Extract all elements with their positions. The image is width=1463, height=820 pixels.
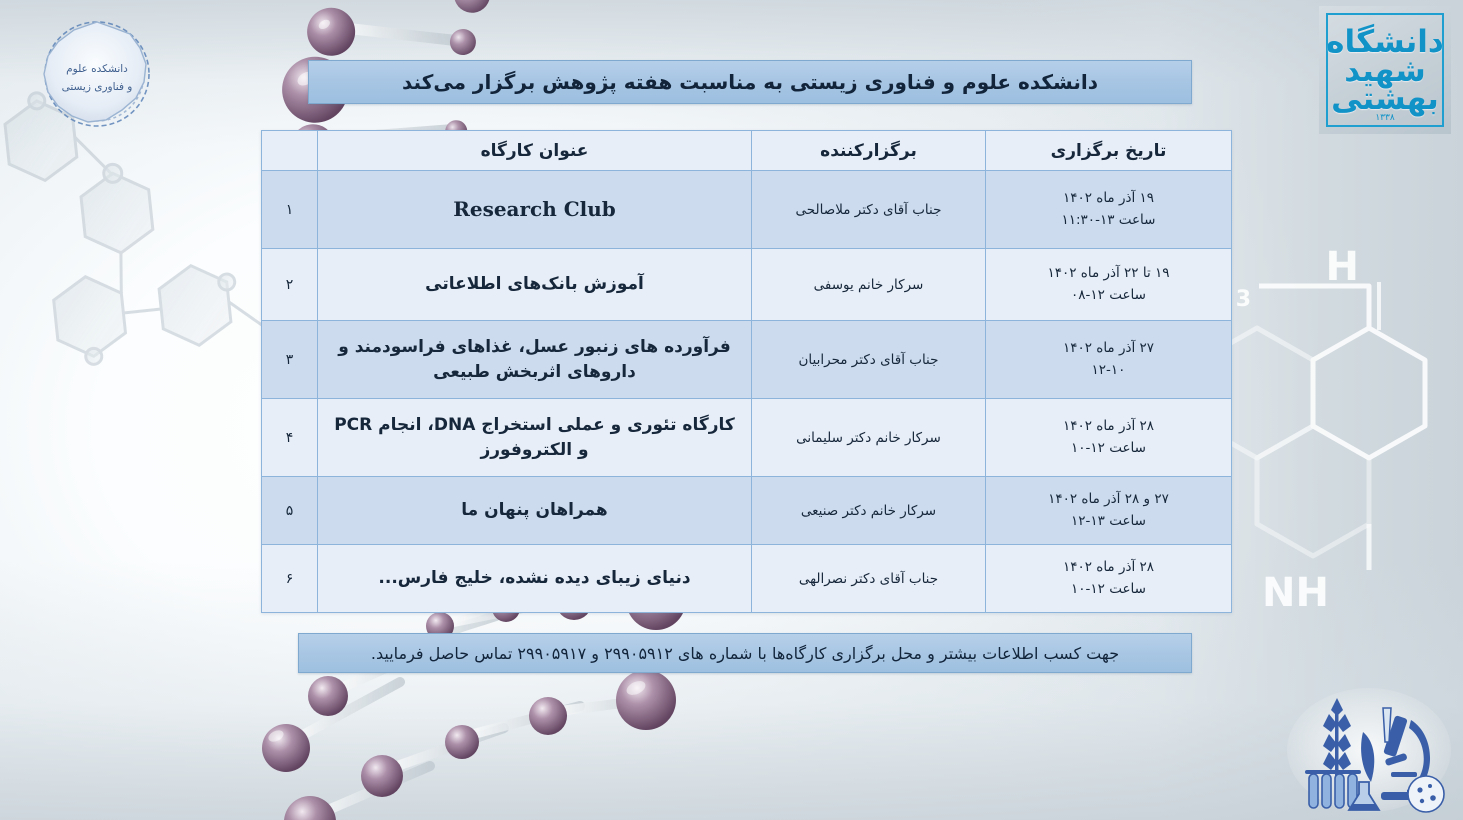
cell-title: فرآورده های زنبور عسل، غذاهای فراسودمند … [318, 321, 752, 399]
faculty-seal-line1: دانشکده علوم [66, 63, 128, 75]
cell-title: آموزش بانک‌های اطلاعاتی [318, 249, 752, 321]
cell-organizer: سرکار خانم یوسفی [752, 249, 986, 321]
table-header: تاریخ برگزاری برگزارکننده عنوان کارگاه [262, 131, 1232, 171]
date-line-2: ساعت ۱۲-۰۸ [992, 285, 1225, 307]
chemical-structure-watermark: CH 3 H NH [1193, 230, 1463, 620]
cell-organizer: جناب آقای دکتر نصرالهی [752, 545, 986, 613]
cell-index: ۵ [262, 477, 318, 545]
date-line-1: ۲۸ آذر ماه ۱۴۰۲ [992, 557, 1225, 579]
chem-label-ch3-subscript: 3 [1236, 287, 1251, 312]
university-name-line3: بهشتی [1326, 85, 1444, 114]
table-row[interactable]: ۲۷ آذر ماه ۱۴۰۲ ۱۲-۱۰ جناب آقای دکتر محر… [262, 321, 1232, 399]
cell-date: ۲۷ آذر ماه ۱۴۰۲ ۱۲-۱۰ [986, 321, 1232, 399]
date-line-2: ساعت ۱۳-۱۲ [992, 511, 1225, 533]
cell-date: ۲۸ آذر ماه ۱۴۰۲ ساعت ۱۲-۱۰ [986, 545, 1232, 613]
column-header-index [262, 131, 318, 171]
table-row[interactable]: ۱۹ تا ۲۲ آذر ماه ۱۴۰۲ ساعت ۱۲-۰۸ سرکار خ… [262, 249, 1232, 321]
cell-title: همراهان پنهان ما [318, 477, 752, 545]
cell-index: ۳ [262, 321, 318, 399]
biotech-emblem-logo [1285, 686, 1453, 814]
cell-organizer: سرکار خانم دکتر سلیمانی [752, 399, 986, 477]
footer-contact-banner: جهت کسب اطلاعات بیشتر و محل برگزاری کارگ… [298, 633, 1192, 673]
date-line-1: ۲۸ آذر ماه ۱۴۰۲ [992, 416, 1225, 438]
faculty-seal-line2: و فناوری زیستی [62, 81, 133, 93]
table-body: ۱۹ آذر ماه ۱۴۰۲ ساعت ۱۳-۱۱:۳۰ جناب آقای … [262, 171, 1232, 613]
table-row[interactable]: ۲۸ آذر ماه ۱۴۰۲ ساعت ۱۲-۱۰ سرکار خانم دک… [262, 399, 1232, 477]
table-row[interactable]: ۲۸ آذر ماه ۱۴۰۲ ساعت ۱۲-۱۰ جناب آقای دکت… [262, 545, 1232, 613]
table-row[interactable]: ۲۷ و ۲۸ آذر ماه ۱۴۰۲ ساعت ۱۳-۱۲ سرکار خا… [262, 477, 1232, 545]
date-line-1: ۲۷ و ۲۸ آذر ماه ۱۴۰۲ [992, 489, 1225, 511]
cell-index: ۶ [262, 545, 318, 613]
column-header-title: عنوان کارگاه [318, 131, 752, 171]
column-header-organizer: برگزارکننده [752, 131, 986, 171]
cell-index: ۲ [262, 249, 318, 321]
date-line-2: ۱۲-۱۰ [992, 360, 1225, 382]
university-logo: دانشگاه شهید بهشتی ۱۳۳۸ [1319, 6, 1451, 134]
table-header-row: تاریخ برگزاری برگزارکننده عنوان کارگاه [262, 131, 1232, 171]
cell-index: ۴ [262, 399, 318, 477]
date-line-2: ساعت ۱۳-۱۱:۳۰ [992, 210, 1225, 232]
header-banner: دانشکده علوم و فناوری زیستی به مناسبت هف… [308, 60, 1192, 104]
cell-organizer: سرکار خانم دکتر صنیعی [752, 477, 986, 545]
cell-organizer: جناب آقای دکتر محرابیان [752, 321, 986, 399]
cell-date: ۱۹ تا ۲۲ آذر ماه ۱۴۰۲ ساعت ۱۲-۰۸ [986, 249, 1232, 321]
cell-organizer: جناب آقای دکتر ملاصالحی [752, 171, 986, 249]
cell-date: ۲۷ و ۲۸ آذر ماه ۱۴۰۲ ساعت ۱۳-۱۲ [986, 477, 1232, 545]
cell-date: ۱۹ آذر ماه ۱۴۰۲ ساعت ۱۳-۱۱:۳۰ [986, 171, 1232, 249]
date-line-2: ساعت ۱۲-۱۰ [992, 579, 1225, 601]
date-line-1: ۲۷ آذر ماه ۱۴۰۲ [992, 338, 1225, 360]
cell-date: ۲۸ آذر ماه ۱۴۰۲ ساعت ۱۲-۱۰ [986, 399, 1232, 477]
chem-label-nh: NH [1262, 570, 1329, 616]
date-line-1: ۱۹ آذر ماه ۱۴۰۲ [992, 188, 1225, 210]
university-logo-frame: دانشگاه شهید بهشتی ۱۳۳۸ [1326, 13, 1444, 127]
table-row[interactable]: ۱۹ آذر ماه ۱۴۰۲ ساعت ۱۳-۱۱:۳۰ جناب آقای … [262, 171, 1232, 249]
header-banner-text: دانشکده علوم و فناوری زیستی به مناسبت هف… [402, 70, 1098, 94]
poster-canvas: CH 3 H NH [0, 0, 1463, 820]
workshop-schedule-table: تاریخ برگزاری برگزارکننده عنوان کارگاه ۱… [261, 130, 1232, 613]
cell-title: دنیای زیبای دیده نشده، خلیج فارس... [318, 545, 752, 613]
column-header-date: تاریخ برگزاری [986, 131, 1232, 171]
chem-label-h: H [1326, 244, 1359, 290]
cell-title: Research Club [318, 171, 752, 249]
date-line-2: ساعت ۱۲-۱۰ [992, 438, 1225, 460]
faculty-seal-logo: دانشکده علوم و فناوری زیستی [22, 16, 172, 134]
workshop-schedule-table-container: تاریخ برگزاری برگزارکننده عنوان کارگاه ۱… [262, 130, 1232, 613]
university-founded-year: ۱۳۳۸ [1328, 113, 1442, 123]
cell-index: ۱ [262, 171, 318, 249]
footer-banner-text: جهت کسب اطلاعات بیشتر و محل برگزاری کارگ… [371, 644, 1119, 663]
date-line-1: ۱۹ تا ۲۲ آذر ماه ۱۴۰۲ [992, 263, 1225, 285]
university-logo-calligraphy: دانشگاه شهید بهشتی [1326, 26, 1444, 114]
cell-title: کارگاه تئوری و عملی استخراج DNA، انجام P… [318, 399, 752, 477]
